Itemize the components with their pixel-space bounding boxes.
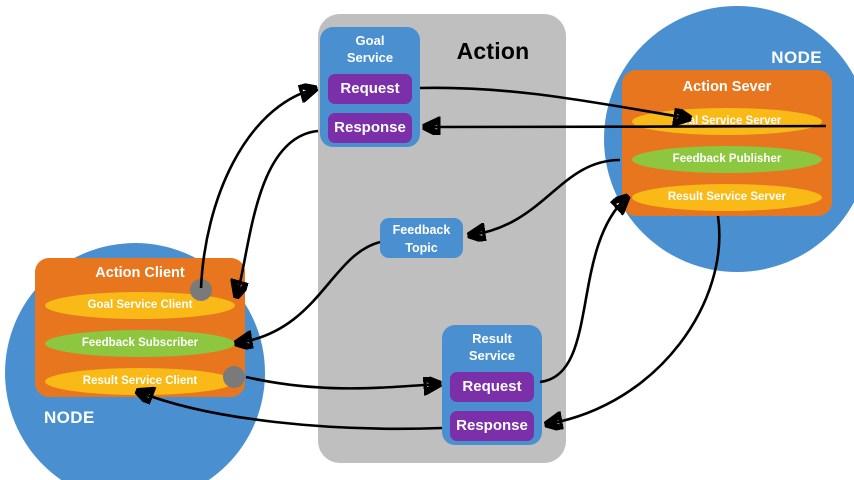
pill-feedback-publisher[interactable]: Feedback Publisher xyxy=(632,146,822,173)
feedback-topic-line1: Feedback xyxy=(393,223,451,237)
goal-service-response[interactable]: Response xyxy=(328,113,412,143)
result-service-title-line1: Result xyxy=(472,331,512,346)
action-server-box: Action Sever Goal Service Server Feedbac… xyxy=(622,70,832,216)
goal-service-title: Goal Service xyxy=(320,32,420,66)
connector-dot-goal-client xyxy=(190,279,212,301)
feedback-topic-line2: Topic xyxy=(405,241,437,255)
pill-goal-service-server[interactable]: Goal Service Server xyxy=(632,108,822,135)
result-service-box: Result Service Request Response xyxy=(442,325,542,445)
result-service-title: Result Service xyxy=(442,330,542,364)
node-left-label: NODE xyxy=(44,408,124,430)
result-service-request[interactable]: Request xyxy=(450,372,534,402)
node-right-label: NODE xyxy=(752,48,822,70)
pill-result-service-client[interactable]: Result Service Client xyxy=(45,368,235,395)
action-client-box: Action Client Goal Service Client Feedba… xyxy=(35,258,245,397)
action-server-title: Action Sever xyxy=(622,79,832,95)
arrow-response-to-goal-client xyxy=(237,131,318,295)
goal-service-title-line1: Goal xyxy=(356,33,385,48)
pill-result-service-server[interactable]: Result Service Server xyxy=(632,184,822,211)
action-client-title: Action Client xyxy=(35,265,245,281)
goal-service-title-line2: Service xyxy=(347,50,393,65)
diagram-canvas: Action NODE Action Sever Goal Service Se… xyxy=(0,0,854,480)
connector-dot-result-client xyxy=(223,366,245,388)
goal-service-box: Goal Service Request Response xyxy=(320,27,420,147)
action-panel-title: Action xyxy=(434,34,552,68)
goal-service-request[interactable]: Request xyxy=(328,74,412,104)
feedback-topic-box[interactable]: Feedback Topic xyxy=(380,218,463,258)
pill-feedback-subscriber[interactable]: Feedback Subscriber xyxy=(45,330,235,357)
result-service-response[interactable]: Response xyxy=(450,411,534,441)
result-service-title-line2: Service xyxy=(469,348,515,363)
